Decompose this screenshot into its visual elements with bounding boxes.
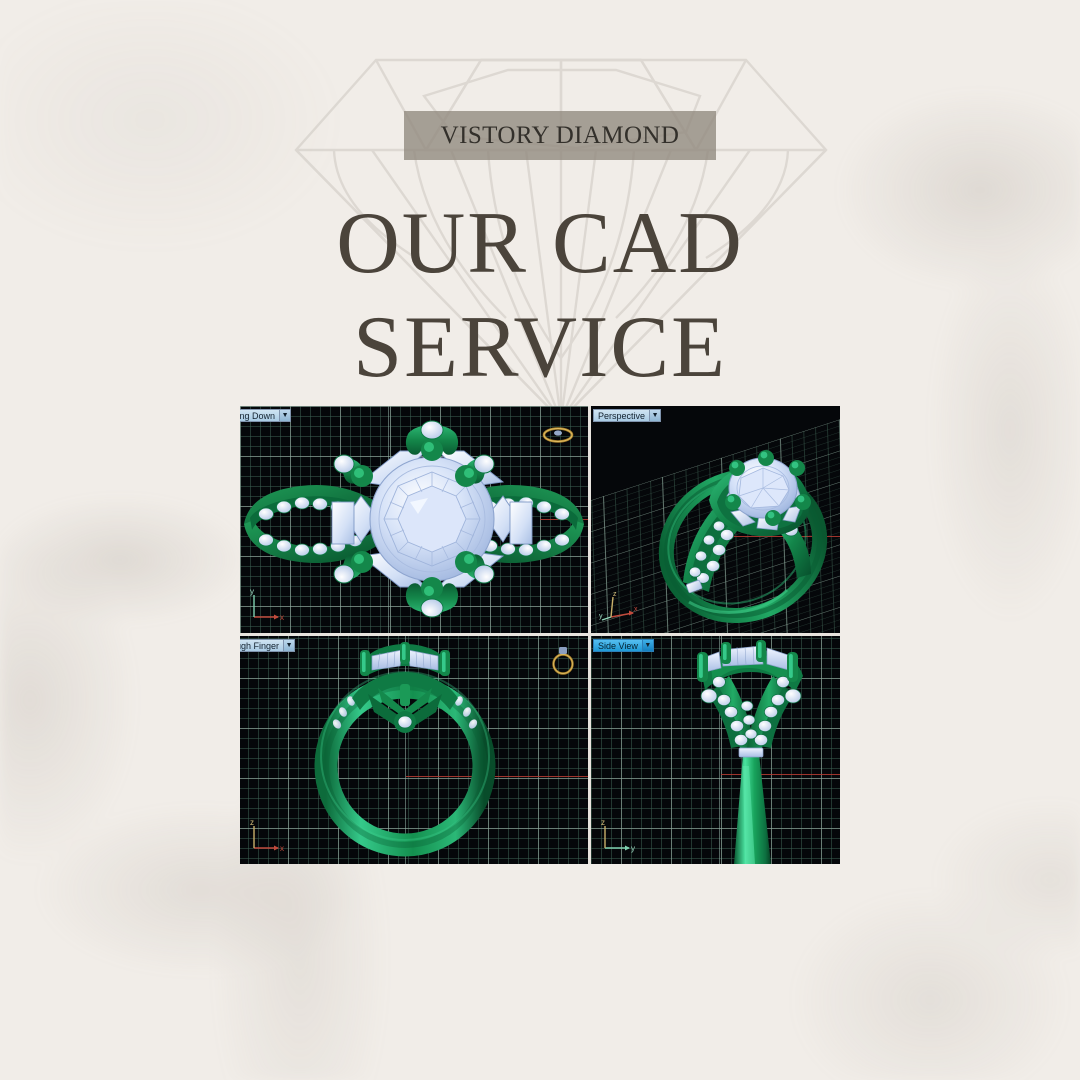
- viewport-label-side-view[interactable]: Side View ▼: [593, 639, 654, 652]
- viewport-perspective[interactable]: x z y Perspective ▼: [591, 406, 840, 633]
- svg-text:x: x: [280, 844, 284, 853]
- ring-through-finger-render: [240, 636, 588, 864]
- cad-render-grid: x y ooking Down ▼: [240, 406, 840, 864]
- page-title: OUR CAD SERVICE: [0, 192, 1080, 400]
- viewport-looking-down[interactable]: x y ooking Down ▼: [240, 406, 588, 633]
- svg-text:z: z: [613, 591, 617, 598]
- svg-text:x: x: [634, 606, 638, 613]
- ring-top-view-render: [240, 406, 588, 633]
- ring-reference-thumbnail: [542, 424, 574, 444]
- svg-text:z: z: [601, 818, 605, 827]
- viewport-side-view[interactable]: y z Side View ▼: [591, 636, 840, 864]
- viewport-through-finger[interactable]: x z hrough Finger ▼: [240, 636, 588, 864]
- svg-text:y: y: [631, 844, 635, 853]
- axis-gizmo-zy: y z: [599, 818, 643, 854]
- brand-banner: VISTORY DIAMOND: [404, 111, 716, 160]
- axis-gizmo-zx: x z: [248, 818, 292, 854]
- brand-name: VISTORY DIAMOND: [441, 122, 680, 150]
- chevron-down-icon[interactable]: ▼: [649, 410, 660, 421]
- svg-text:y: y: [250, 587, 254, 596]
- viewport-label-perspective[interactable]: Perspective ▼: [593, 409, 661, 422]
- chevron-down-icon[interactable]: ▼: [279, 410, 290, 421]
- chevron-down-icon[interactable]: ▼: [283, 640, 294, 651]
- chevron-down-icon[interactable]: ▼: [642, 640, 653, 651]
- page-title-line-1: OUR CAD: [0, 192, 1080, 296]
- page-title-line-2: SERVICE: [0, 296, 1080, 400]
- viewport-label-looking-down[interactable]: ooking Down ▼: [240, 409, 291, 422]
- axis-gizmo-xyz: x z y: [599, 587, 643, 623]
- axis-gizmo-xy: x y: [248, 587, 292, 623]
- viewport-label-through-finger[interactable]: hrough Finger ▼: [240, 639, 295, 652]
- svg-text:y: y: [599, 613, 603, 620]
- svg-text:z: z: [250, 818, 254, 827]
- svg-text:x: x: [280, 613, 284, 622]
- ring-reference-thumbnail: [550, 644, 576, 676]
